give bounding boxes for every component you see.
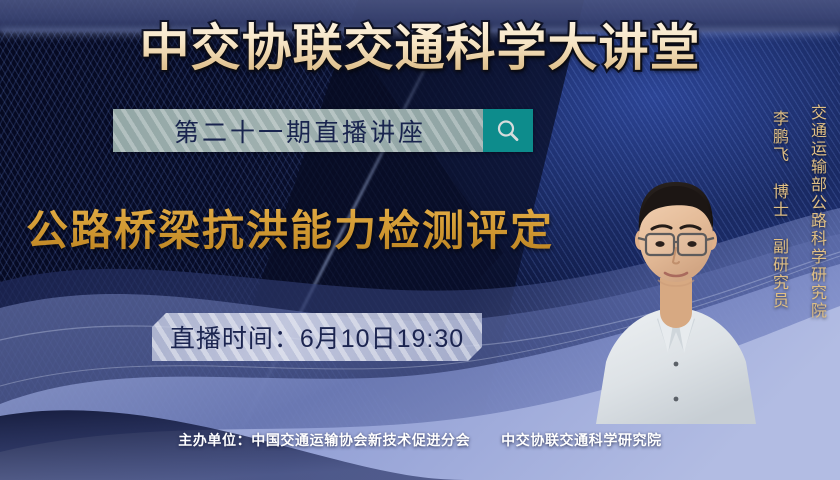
poster-canvas: 中交协联交通科学大讲堂 中交协联交通科学大讲堂 第二十一期直播讲座 公路桥梁抗洪… <box>0 0 840 480</box>
broadcast-time-label: 直播时间：6月10日19:30 <box>170 319 464 355</box>
speaker-portrait <box>596 156 756 424</box>
lecture-headline: 公路桥梁抗洪能力检测评定 <box>26 203 554 259</box>
speaker-name-title: 李鹏飞 博士 副研究员 <box>766 110 790 310</box>
subtitle-label: 第二十一期直播讲座 <box>170 113 426 149</box>
speaker-organization: 交通运输部公路科学研究院 <box>804 104 828 320</box>
broadcast-time-badge: 直播时间：6月10日19:30 <box>152 313 482 361</box>
main-title: 中交协联交通科学大讲堂 <box>0 18 840 78</box>
subtitle-text-container: 第二十一期直播讲座 <box>113 109 483 152</box>
search-icon <box>494 117 522 145</box>
footer-organizer-prefix: 主办单位：中国交通运输协会新技术促进分会 <box>178 432 470 448</box>
footer-organizer-suffix: 中交协联交通科学研究院 <box>501 432 662 448</box>
subtitle-bar: 第二十一期直播讲座 <box>113 109 533 152</box>
footer-bar: 主办单位：中国交通运输协会新技术促进分会 中交协联交通科学研究院 <box>0 430 840 450</box>
search-icon-button[interactable] <box>483 109 533 152</box>
